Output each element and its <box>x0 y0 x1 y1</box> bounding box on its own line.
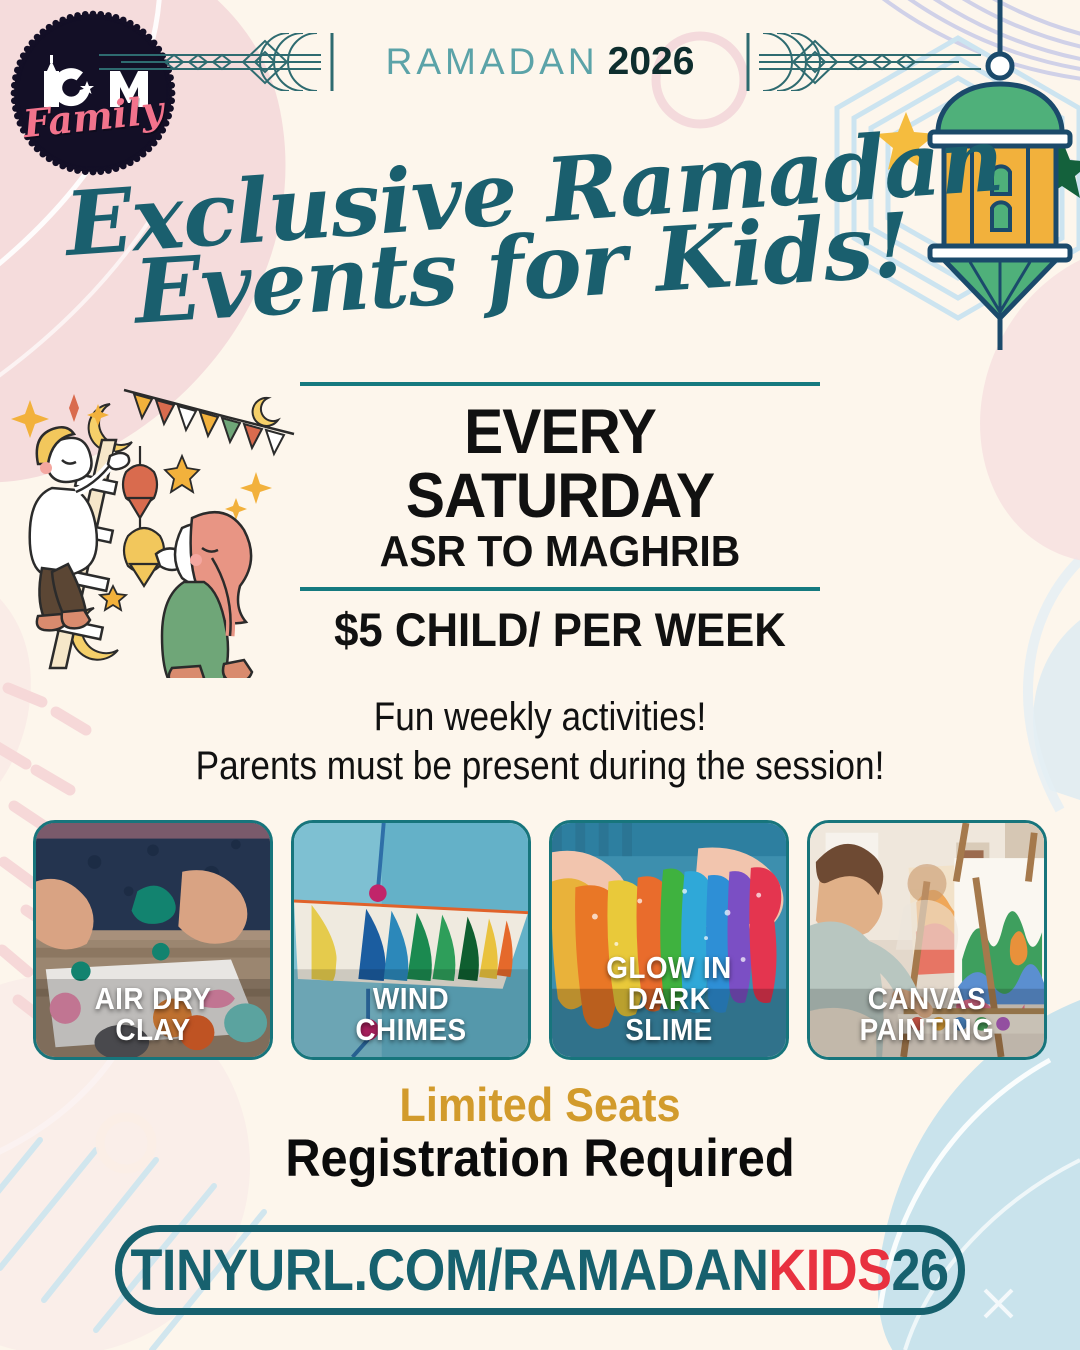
activity-card-wind-chimes[interactable]: WIND CHIMES <box>291 820 531 1060</box>
subtitle-line-1: Fun weekly activities! <box>65 693 1015 742</box>
activity-card-label: GLOW IN DARK SLIME <box>564 952 775 1045</box>
event-info-block: EVERY SATURDAY ASR TO MAGHRIB $5 CHILD/ … <box>300 382 820 655</box>
activity-card-label: CANVAS PAINTING <box>822 983 1033 1045</box>
kids-hanging-lanterns-illustration <box>6 368 298 678</box>
activity-card-air-dry-clay[interactable]: AIR DRY CLAY <box>33 820 273 1060</box>
activity-label-line-1: WIND <box>311 983 511 1014</box>
activity-label-line-1: GLOW IN DARK <box>569 952 769 1014</box>
ramadan-year: 2026 <box>608 40 695 84</box>
registration-callout: Limited Seats Registration Required <box>0 1080 1080 1187</box>
subtitle-line-2: Parents must be present during the sessi… <box>65 742 1015 791</box>
activity-label-line-2: PAINTING <box>827 1014 1027 1045</box>
event-time: ASR TO MAGHRIB <box>318 529 802 575</box>
divider-top <box>300 382 820 386</box>
activity-card-canvas-painting[interactable]: CANVAS PAINTING <box>807 820 1047 1060</box>
activity-card-label: WIND CHIMES <box>306 983 517 1045</box>
activity-card-list: AIR DRY CLAY <box>33 820 1047 1060</box>
activity-label-line-1: CANVAS <box>827 983 1027 1014</box>
registration-url-button[interactable]: TINYURL.COM/RAMADANKIDS26 <box>115 1225 965 1315</box>
activity-label-line-2: SLIME <box>569 1014 769 1045</box>
activity-card-glow-in-dark-slime[interactable]: GLOW IN DARK SLIME <box>549 820 789 1060</box>
event-price: $5 CHILD/ PER WEEK <box>318 604 802 656</box>
ramadan-label: RAMADAN <box>386 41 599 83</box>
poster-root: Family <box>0 0 1080 1350</box>
event-subtitle: Fun weekly activities! Parents must be p… <box>0 693 1080 791</box>
activity-label-line-2: CLAY <box>53 1014 253 1045</box>
activity-label-line-1: AIR DRY <box>53 983 253 1014</box>
activity-card-label: AIR DRY CLAY <box>48 983 259 1045</box>
registration-url-text: TINYURL.COM/RAMADANKIDS26 <box>131 1237 949 1304</box>
url-prefix: TINYURL.COM/RAMADAN <box>131 1238 769 1303</box>
geometric-ornament-icon <box>702 33 987 91</box>
logo-family-text: Family <box>21 94 164 141</box>
activity-label-line-2: CHIMES <box>311 1014 511 1045</box>
url-suffix: 26 <box>892 1238 949 1303</box>
url-highlight: KIDS <box>769 1238 892 1303</box>
event-day: EVERY SATURDAY <box>318 400 802 529</box>
registration-required-text: Registration Required <box>43 1131 1037 1187</box>
page-title: Exclusive Ramadan Events for Kids! <box>0 150 1080 350</box>
limited-seats-text: Limited Seats <box>43 1080 1037 1129</box>
divider-middle <box>300 587 820 591</box>
